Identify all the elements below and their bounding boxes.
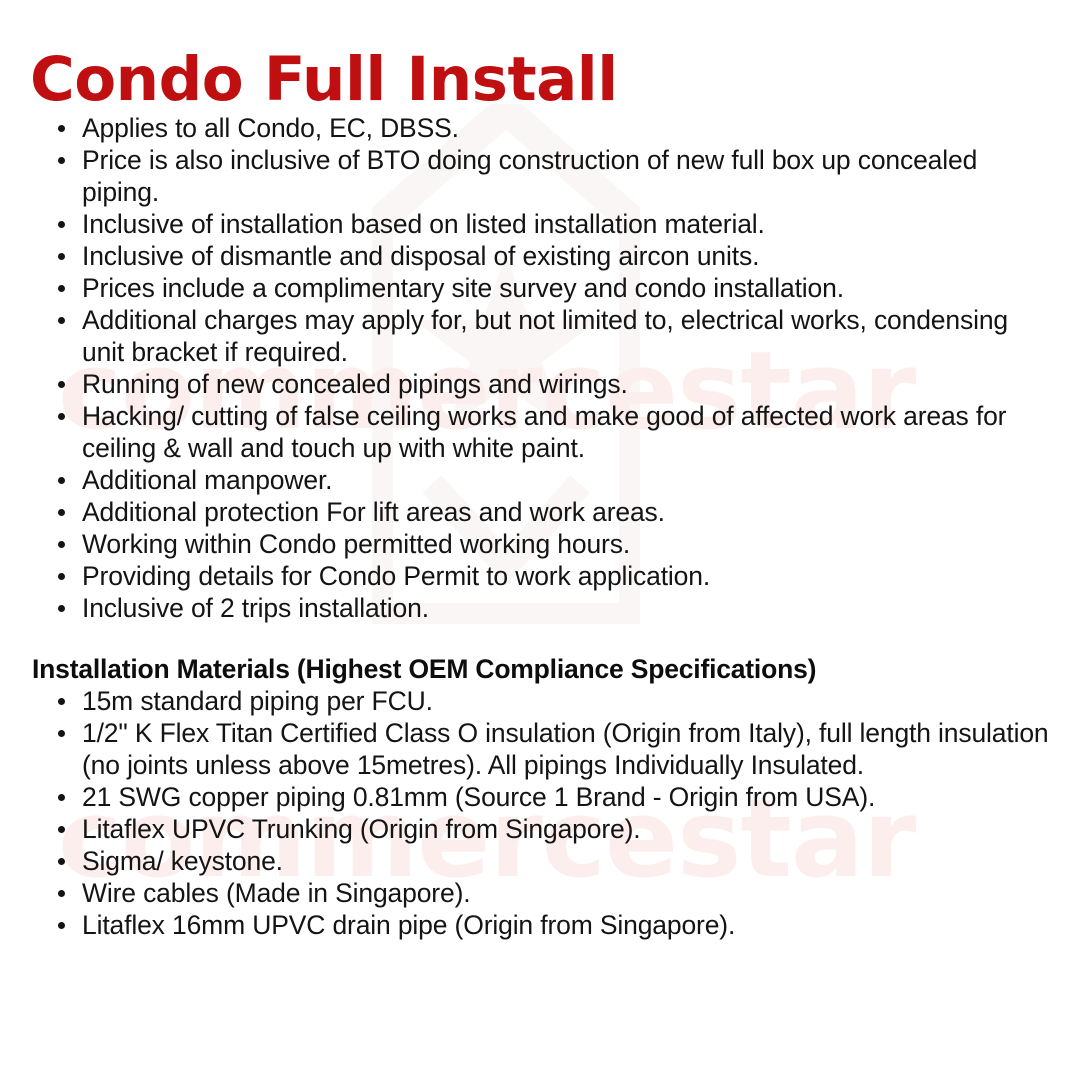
list-item: Running of new concealed pipings and wir… [30,368,1050,400]
list-item: 21 SWG copper piping 0.81mm (Source 1 Br… [30,781,1050,813]
scope-bullet-list: Applies to all Condo, EC, DBSS. Price is… [30,112,1050,624]
list-item: Additional protection For lift areas and… [30,496,1050,528]
list-item: Inclusive of dismantle and disposal of e… [30,240,1050,272]
list-item: Additional charges may apply for, but no… [30,304,1050,368]
list-item: Inclusive of 2 trips installation. [30,592,1050,624]
list-item: Inclusive of installation based on liste… [30,208,1050,240]
list-item: Price is also inclusive of BTO doing con… [30,144,1050,208]
content-area: Condo Full Install Applies to all Condo,… [0,0,1080,941]
list-item: Wire cables (Made in Singapore). [30,877,1050,909]
list-item: Hacking/ cutting of false ceiling works … [30,400,1050,464]
page-title: Condo Full Install [30,0,1050,112]
list-item: 15m standard piping per FCU. [30,685,1050,717]
list-item: Litaflex 16mm UPVC drain pipe (Origin fr… [30,909,1050,941]
page-root: commercestar commercestar Condo Full Ins… [0,0,1080,1080]
list-item: 1/2" K Flex Titan Certified Class O insu… [30,717,1050,781]
list-item: Additional manpower. [30,464,1050,496]
list-item: Prices include a complimentary site surv… [30,272,1050,304]
list-item: Sigma/ keystone. [30,845,1050,877]
list-item: Working within Condo permitted working h… [30,528,1050,560]
materials-bullet-list: 15m standard piping per FCU. 1/2" K Flex… [30,685,1050,941]
list-item: Providing details for Condo Permit to wo… [30,560,1050,592]
installation-materials-heading: Installation Materials (Highest OEM Comp… [30,624,1050,685]
list-item: Applies to all Condo, EC, DBSS. [30,112,1050,144]
list-item: Litaflex UPVC Trunking (Origin from Sing… [30,813,1050,845]
